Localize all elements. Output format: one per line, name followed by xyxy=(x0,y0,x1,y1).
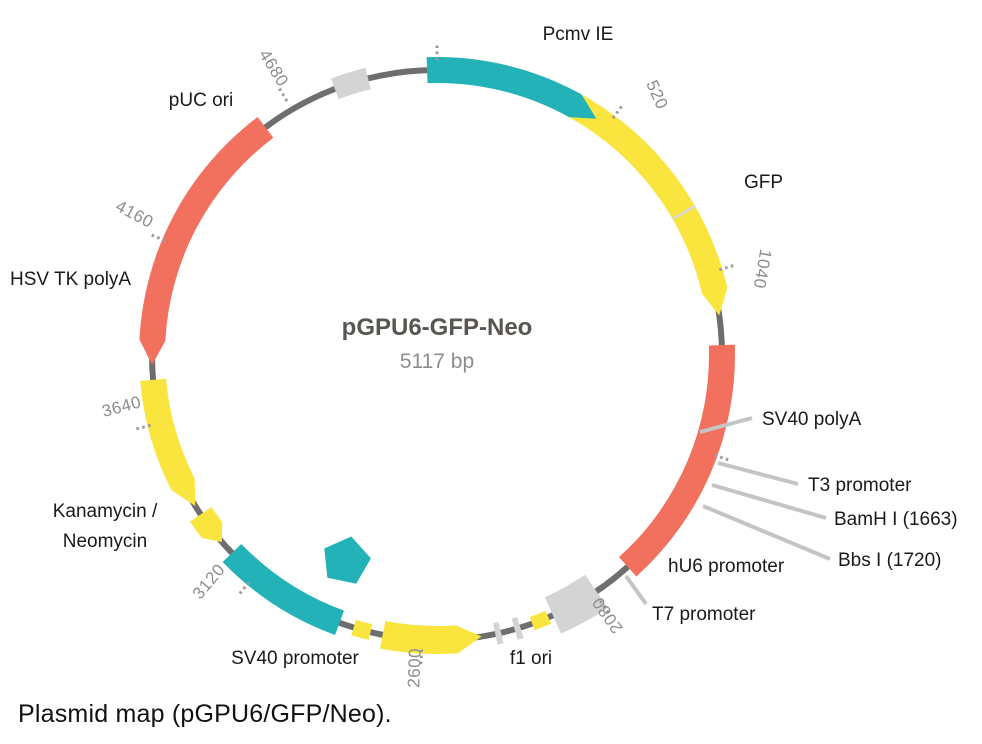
feature-label-kanamycin-neomycin-line2: Neomycin xyxy=(63,531,147,552)
plasmid-center-text: pGPU6-GFP-Neo 5117 bp xyxy=(342,314,533,373)
feature-label-t3-promoter: T3 promoter xyxy=(808,475,912,496)
feature-label-gfp: GFP xyxy=(744,172,783,193)
plasmid-map-svg: 5201040208026003120364041604680 Pcmv IEG… xyxy=(0,0,982,700)
plasmid-name: pGPU6-GFP-Neo xyxy=(342,314,533,341)
leader-line xyxy=(626,576,646,604)
feature-label-hu6-promoter: hU6 promoter xyxy=(668,556,785,577)
feature-label-bbs-i-1720: Bbs I (1720) xyxy=(838,550,942,571)
tick-label-3120: 3120 xyxy=(189,560,229,603)
feature-shape-t7-promoter[interactable] xyxy=(351,620,372,640)
feature-label-sv40-polya: SV40 polyA xyxy=(762,409,862,430)
feature-label-sv40-promoter-arc: SV40 promoter xyxy=(231,648,359,669)
feature-shape-t3-promoter[interactable] xyxy=(530,611,551,630)
tick-mark xyxy=(613,105,623,118)
feature-shape-puc-ori[interactable] xyxy=(427,57,597,119)
tick-label-2600: 2600 xyxy=(404,648,424,688)
tick-label-3640: 3640 xyxy=(100,392,143,421)
leader-line xyxy=(718,463,798,484)
feature-shape-gfp[interactable] xyxy=(619,345,735,577)
tick-label-4160: 4160 xyxy=(113,196,157,231)
feature-label-pcmv-ie: Pcmv IE xyxy=(543,24,614,45)
feature-label-bamh-i-1663: BamH I (1663) xyxy=(834,509,958,530)
feature-shape-hsv-tk-polya[interactable] xyxy=(331,68,371,99)
figure-caption: Plasmid map (pGPU6/GFP/Neo). xyxy=(18,700,392,729)
feature-shape-pcmv-ie[interactable] xyxy=(565,92,728,315)
tick-mark xyxy=(279,87,287,101)
feature-label-t7-promoter: T7 promoter xyxy=(652,604,756,625)
feature-label-f1-ori: f1 ori xyxy=(510,648,552,669)
feature-shape-sv40-promoter[interactable] xyxy=(190,507,222,542)
feature-label-hsv-tk-polya: HSV TK polyA xyxy=(10,269,131,290)
tick-label-1040: 1040 xyxy=(750,248,776,291)
tick-mark xyxy=(150,234,165,240)
feature-shape-hu6-promoter[interactable] xyxy=(380,621,482,654)
tick-mark xyxy=(239,582,249,594)
tick-mark xyxy=(715,455,730,460)
plasmid-figure: 5201040208026003120364041604680 Pcmv IEG… xyxy=(0,0,982,744)
plasmid-size: 5117 bp xyxy=(400,350,474,373)
feature-label-puc-ori: pUC ori xyxy=(169,90,233,111)
feature-shape-kanamycin-neomycin[interactable] xyxy=(139,117,273,365)
feature-label-kanamycin-neomycin: Kanamycin / xyxy=(53,501,158,522)
tick-label-520: 520 xyxy=(642,77,672,112)
tick-label-4680: 4680 xyxy=(255,46,292,90)
feature-shape-unlabeled[interactable] xyxy=(324,537,371,584)
feature-shape-sv40-promoter-arc[interactable] xyxy=(140,379,195,506)
